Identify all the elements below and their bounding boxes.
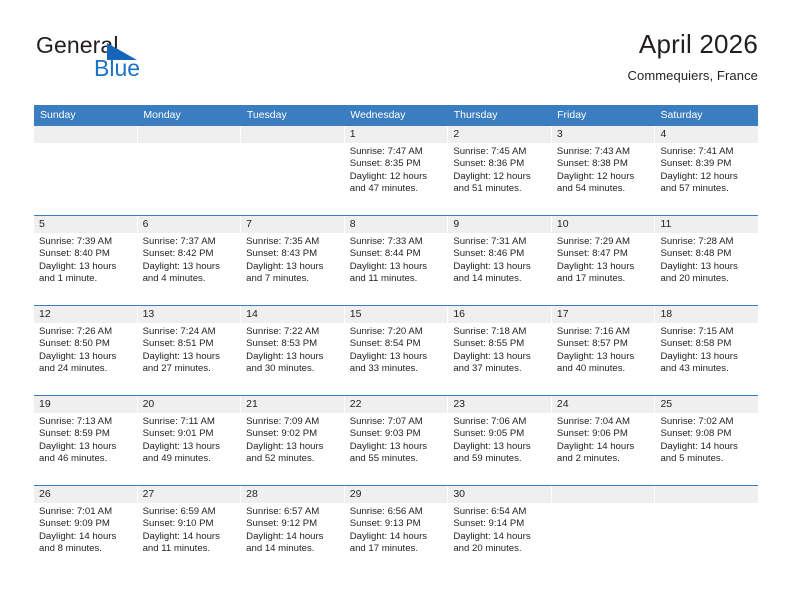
day-number: 10 bbox=[552, 216, 655, 233]
daylight-text-line1: Daylight: 13 hours bbox=[350, 441, 443, 453]
day-number-band: 11 bbox=[655, 216, 758, 233]
day-number-band: 18 bbox=[655, 306, 758, 323]
day-number-band bbox=[34, 126, 137, 143]
daylight-text-line2: and 33 minutes. bbox=[350, 363, 443, 375]
calendar-day-cell[interactable]: 29Sunrise: 6:56 AMSunset: 9:13 PMDayligh… bbox=[345, 486, 449, 575]
daylight-text-line2: and 30 minutes. bbox=[246, 363, 339, 375]
sunset-text: Sunset: 8:36 PM bbox=[453, 158, 546, 170]
day-details: Sunrise: 7:13 AMSunset: 8:59 PMDaylight:… bbox=[34, 413, 137, 466]
day-details: Sunrise: 6:57 AMSunset: 9:12 PMDaylight:… bbox=[241, 503, 344, 556]
sunset-text: Sunset: 9:03 PM bbox=[350, 428, 443, 440]
sunset-text: Sunset: 9:05 PM bbox=[453, 428, 546, 440]
daylight-text-line1: Daylight: 12 hours bbox=[660, 171, 753, 183]
day-details: Sunrise: 7:01 AMSunset: 9:09 PMDaylight:… bbox=[34, 503, 137, 556]
day-details: Sunrise: 7:29 AMSunset: 8:47 PMDaylight:… bbox=[552, 233, 655, 286]
day-number: 13 bbox=[138, 306, 241, 323]
day-number-band: 21 bbox=[241, 396, 344, 413]
day-details: Sunrise: 7:22 AMSunset: 8:53 PMDaylight:… bbox=[241, 323, 344, 376]
daylight-text-line1: Daylight: 13 hours bbox=[350, 261, 443, 273]
daylight-text-line2: and 54 minutes. bbox=[557, 183, 650, 195]
sunrise-text: Sunrise: 7:29 AM bbox=[557, 236, 650, 248]
calendar-day-cell-empty bbox=[34, 126, 138, 215]
sunset-text: Sunset: 8:48 PM bbox=[660, 248, 753, 260]
day-details: Sunrise: 7:04 AMSunset: 9:06 PMDaylight:… bbox=[552, 413, 655, 466]
day-details: Sunrise: 7:20 AMSunset: 8:54 PMDaylight:… bbox=[345, 323, 448, 376]
day-number-band: 4 bbox=[655, 126, 758, 143]
day-number: 9 bbox=[448, 216, 551, 233]
day-number-band: 29 bbox=[345, 486, 448, 503]
sunset-text: Sunset: 8:46 PM bbox=[453, 248, 546, 260]
daylight-text-line2: and 55 minutes. bbox=[350, 453, 443, 465]
daylight-text-line2: and 57 minutes. bbox=[660, 183, 753, 195]
weekday-header-saturday: Saturday bbox=[655, 105, 758, 126]
daylight-text-line2: and 20 minutes. bbox=[660, 273, 753, 285]
sunrise-text: Sunrise: 7:20 AM bbox=[350, 326, 443, 338]
sunrise-text: Sunrise: 7:31 AM bbox=[453, 236, 546, 248]
day-number-band: 25 bbox=[655, 396, 758, 413]
weekday-header-friday: Friday bbox=[551, 105, 654, 126]
sunset-text: Sunset: 8:47 PM bbox=[557, 248, 650, 260]
sunrise-text: Sunrise: 7:02 AM bbox=[660, 416, 753, 428]
day-number: 1 bbox=[345, 126, 448, 143]
day-number-band: 1 bbox=[345, 126, 448, 143]
day-number: 23 bbox=[448, 396, 551, 413]
day-number: 19 bbox=[34, 396, 137, 413]
daylight-text-line2: and 46 minutes. bbox=[39, 453, 132, 465]
day-number-band: 23 bbox=[448, 396, 551, 413]
weekday-header-thursday: Thursday bbox=[448, 105, 551, 126]
daylight-text-line1: Daylight: 14 hours bbox=[350, 531, 443, 543]
calendar-day-cell[interactable]: 1Sunrise: 7:47 AMSunset: 8:35 PMDaylight… bbox=[345, 126, 449, 215]
daylight-text-line1: Daylight: 14 hours bbox=[660, 441, 753, 453]
daylight-text-line1: Daylight: 13 hours bbox=[246, 351, 339, 363]
day-details: Sunrise: 7:26 AMSunset: 8:50 PMDaylight:… bbox=[34, 323, 137, 376]
sunset-text: Sunset: 9:14 PM bbox=[453, 518, 546, 530]
daylight-text-line2: and 52 minutes. bbox=[246, 453, 339, 465]
day-number-band: 5 bbox=[34, 216, 137, 233]
daylight-text-line1: Daylight: 13 hours bbox=[453, 261, 546, 273]
sunset-text: Sunset: 8:55 PM bbox=[453, 338, 546, 350]
daylight-text-line1: Daylight: 14 hours bbox=[453, 531, 546, 543]
day-details: Sunrise: 7:15 AMSunset: 8:58 PMDaylight:… bbox=[655, 323, 758, 376]
daylight-text-line2: and 8 minutes. bbox=[39, 543, 132, 555]
daylight-text-line1: Daylight: 13 hours bbox=[350, 351, 443, 363]
day-number-band: 3 bbox=[552, 126, 655, 143]
sunrise-text: Sunrise: 7:09 AM bbox=[246, 416, 339, 428]
daylight-text-line2: and 14 minutes. bbox=[246, 543, 339, 555]
day-number: 8 bbox=[345, 216, 448, 233]
sunset-text: Sunset: 9:01 PM bbox=[143, 428, 236, 440]
calendar-day-cell[interactable]: 14Sunrise: 7:22 AMSunset: 8:53 PMDayligh… bbox=[241, 306, 345, 395]
day-number-band bbox=[655, 486, 758, 503]
sunrise-text: Sunrise: 7:37 AM bbox=[143, 236, 236, 248]
daylight-text-line1: Daylight: 13 hours bbox=[453, 351, 546, 363]
calendar-day-cell-empty bbox=[655, 486, 758, 575]
day-details: Sunrise: 6:59 AMSunset: 9:10 PMDaylight:… bbox=[138, 503, 241, 556]
weekday-header-tuesday: Tuesday bbox=[241, 105, 344, 126]
daylight-text-line2: and 2 minutes. bbox=[557, 453, 650, 465]
day-number-band bbox=[552, 486, 655, 503]
day-number-band: 24 bbox=[552, 396, 655, 413]
weekday-header-monday: Monday bbox=[137, 105, 240, 126]
daylight-text-line1: Daylight: 13 hours bbox=[660, 261, 753, 273]
title-block: April 2026 Commequiers, France bbox=[628, 28, 759, 85]
day-number: 27 bbox=[138, 486, 241, 503]
daylight-text-line2: and 17 minutes. bbox=[350, 543, 443, 555]
day-details: Sunrise: 7:07 AMSunset: 9:03 PMDaylight:… bbox=[345, 413, 448, 466]
calendar-day-cell[interactable]: 15Sunrise: 7:20 AMSunset: 8:54 PMDayligh… bbox=[345, 306, 449, 395]
calendar-day-cell-empty bbox=[138, 126, 242, 215]
day-details: Sunrise: 7:39 AMSunset: 8:40 PMDaylight:… bbox=[34, 233, 137, 286]
sunrise-text: Sunrise: 7:35 AM bbox=[246, 236, 339, 248]
daylight-text-line2: and 47 minutes. bbox=[350, 183, 443, 195]
sunset-text: Sunset: 9:12 PM bbox=[246, 518, 339, 530]
calendar-day-cell[interactable]: 16Sunrise: 7:18 AMSunset: 8:55 PMDayligh… bbox=[448, 306, 552, 395]
sunset-text: Sunset: 9:02 PM bbox=[246, 428, 339, 440]
calendar-day-cell[interactable]: 21Sunrise: 7:09 AMSunset: 9:02 PMDayligh… bbox=[241, 396, 345, 485]
calendar-day-cell[interactable]: 4Sunrise: 7:41 AMSunset: 8:39 PMDaylight… bbox=[655, 126, 758, 215]
daylight-text-line1: Daylight: 13 hours bbox=[453, 441, 546, 453]
day-number-band: 2 bbox=[448, 126, 551, 143]
day-number: 12 bbox=[34, 306, 137, 323]
calendar-day-cell[interactable]: 12Sunrise: 7:26 AMSunset: 8:50 PMDayligh… bbox=[34, 306, 138, 395]
day-details: Sunrise: 7:11 AMSunset: 9:01 PMDaylight:… bbox=[138, 413, 241, 466]
calendar-week-row: 1Sunrise: 7:47 AMSunset: 8:35 PMDaylight… bbox=[34, 126, 758, 215]
calendar-day-cell[interactable]: 9Sunrise: 7:31 AMSunset: 8:46 PMDaylight… bbox=[448, 216, 552, 305]
calendar-day-cell[interactable]: 18Sunrise: 7:15 AMSunset: 8:58 PMDayligh… bbox=[655, 306, 758, 395]
daylight-text-line2: and 59 minutes. bbox=[453, 453, 546, 465]
day-details: Sunrise: 6:54 AMSunset: 9:14 PMDaylight:… bbox=[448, 503, 551, 556]
day-number-band: 22 bbox=[345, 396, 448, 413]
day-number-band: 8 bbox=[345, 216, 448, 233]
daylight-text-line1: Daylight: 14 hours bbox=[557, 441, 650, 453]
general-blue-logo[interactable]: General Blue bbox=[34, 32, 254, 88]
day-details: Sunrise: 7:31 AMSunset: 8:46 PMDaylight:… bbox=[448, 233, 551, 286]
daylight-text-line1: Daylight: 12 hours bbox=[350, 171, 443, 183]
sunset-text: Sunset: 8:51 PM bbox=[143, 338, 236, 350]
day-number: 7 bbox=[241, 216, 344, 233]
daylight-text-line1: Daylight: 13 hours bbox=[143, 441, 236, 453]
sunrise-text: Sunrise: 7:45 AM bbox=[453, 146, 546, 158]
day-number: 16 bbox=[448, 306, 551, 323]
day-details: Sunrise: 7:16 AMSunset: 8:57 PMDaylight:… bbox=[552, 323, 655, 376]
sunrise-text: Sunrise: 6:57 AM bbox=[246, 506, 339, 518]
day-details: Sunrise: 6:56 AMSunset: 9:13 PMDaylight:… bbox=[345, 503, 448, 556]
daylight-text-line1: Daylight: 14 hours bbox=[39, 531, 132, 543]
sunrise-text: Sunrise: 7:06 AM bbox=[453, 416, 546, 428]
daylight-text-line1: Daylight: 13 hours bbox=[39, 261, 132, 273]
day-number-band: 28 bbox=[241, 486, 344, 503]
day-details: Sunrise: 7:37 AMSunset: 8:42 PMDaylight:… bbox=[138, 233, 241, 286]
calendar-week-row: 12Sunrise: 7:26 AMSunset: 8:50 PMDayligh… bbox=[34, 305, 758, 395]
calendar-day-cell[interactable]: 13Sunrise: 7:24 AMSunset: 8:51 PMDayligh… bbox=[138, 306, 242, 395]
calendar-week-row: 19Sunrise: 7:13 AMSunset: 8:59 PMDayligh… bbox=[34, 395, 758, 485]
calendar-day-cell[interactable]: 3Sunrise: 7:43 AMSunset: 8:38 PMDaylight… bbox=[552, 126, 656, 215]
calendar-day-cell[interactable]: 30Sunrise: 6:54 AMSunset: 9:14 PMDayligh… bbox=[448, 486, 552, 575]
sunrise-text: Sunrise: 7:28 AM bbox=[660, 236, 753, 248]
sunset-text: Sunset: 8:50 PM bbox=[39, 338, 132, 350]
calendar-day-cell[interactable]: 10Sunrise: 7:29 AMSunset: 8:47 PMDayligh… bbox=[552, 216, 656, 305]
day-details: Sunrise: 7:06 AMSunset: 9:05 PMDaylight:… bbox=[448, 413, 551, 466]
sunset-text: Sunset: 9:09 PM bbox=[39, 518, 132, 530]
sunrise-text: Sunrise: 7:18 AM bbox=[453, 326, 546, 338]
calendar-day-cell[interactable]: 25Sunrise: 7:02 AMSunset: 9:08 PMDayligh… bbox=[655, 396, 758, 485]
day-number-band: 26 bbox=[34, 486, 137, 503]
sunrise-text: Sunrise: 7:22 AM bbox=[246, 326, 339, 338]
day-number: 15 bbox=[345, 306, 448, 323]
sunset-text: Sunset: 9:13 PM bbox=[350, 518, 443, 530]
calendar-page: General Blue April 2026 Commequiers, Fra… bbox=[0, 0, 792, 612]
daylight-text-line1: Daylight: 12 hours bbox=[453, 171, 546, 183]
daylight-text-line2: and 4 minutes. bbox=[143, 273, 236, 285]
day-number-band: 17 bbox=[552, 306, 655, 323]
calendar-day-cell[interactable]: 26Sunrise: 7:01 AMSunset: 9:09 PMDayligh… bbox=[34, 486, 138, 575]
daylight-text-line2: and 37 minutes. bbox=[453, 363, 546, 375]
calendar-week-row: 26Sunrise: 7:01 AMSunset: 9:09 PMDayligh… bbox=[34, 485, 758, 575]
day-details: Sunrise: 7:28 AMSunset: 8:48 PMDaylight:… bbox=[655, 233, 758, 286]
daylight-text-line1: Daylight: 13 hours bbox=[557, 351, 650, 363]
day-number-band: 27 bbox=[138, 486, 241, 503]
day-details: Sunrise: 7:47 AMSunset: 8:35 PMDaylight:… bbox=[345, 143, 448, 196]
day-number-band: 6 bbox=[138, 216, 241, 233]
sunset-text: Sunset: 8:57 PM bbox=[557, 338, 650, 350]
day-number-band: 15 bbox=[345, 306, 448, 323]
day-number: 6 bbox=[138, 216, 241, 233]
day-number-band: 9 bbox=[448, 216, 551, 233]
daylight-text-line2: and 49 minutes. bbox=[143, 453, 236, 465]
sunrise-text: Sunrise: 7:41 AM bbox=[660, 146, 753, 158]
day-details: Sunrise: 7:33 AMSunset: 8:44 PMDaylight:… bbox=[345, 233, 448, 286]
calendar-day-cell[interactable]: 7Sunrise: 7:35 AMSunset: 8:43 PMDaylight… bbox=[241, 216, 345, 305]
sunrise-text: Sunrise: 7:39 AM bbox=[39, 236, 132, 248]
sunrise-text: Sunrise: 7:13 AM bbox=[39, 416, 132, 428]
day-number-band: 14 bbox=[241, 306, 344, 323]
day-number-band: 16 bbox=[448, 306, 551, 323]
day-number: 20 bbox=[138, 396, 241, 413]
sunrise-text: Sunrise: 7:33 AM bbox=[350, 236, 443, 248]
logo-text-blue: Blue bbox=[94, 55, 140, 81]
sunset-text: Sunset: 9:10 PM bbox=[143, 518, 236, 530]
day-number: 18 bbox=[655, 306, 758, 323]
day-details: Sunrise: 7:02 AMSunset: 9:08 PMDaylight:… bbox=[655, 413, 758, 466]
day-number: 28 bbox=[241, 486, 344, 503]
day-number: 14 bbox=[241, 306, 344, 323]
daylight-text-line2: and 11 minutes. bbox=[143, 543, 236, 555]
sunset-text: Sunset: 8:58 PM bbox=[660, 338, 753, 350]
day-number: 21 bbox=[241, 396, 344, 413]
daylight-text-line2: and 51 minutes. bbox=[453, 183, 546, 195]
day-number: 11 bbox=[655, 216, 758, 233]
daylight-text-line2: and 43 minutes. bbox=[660, 363, 753, 375]
sunrise-text: Sunrise: 6:54 AM bbox=[453, 506, 546, 518]
day-number: 26 bbox=[34, 486, 137, 503]
day-number-band bbox=[241, 126, 344, 143]
daylight-text-line2: and 40 minutes. bbox=[557, 363, 650, 375]
day-number: 29 bbox=[345, 486, 448, 503]
sunset-text: Sunset: 8:44 PM bbox=[350, 248, 443, 260]
calendar-table: SundayMondayTuesdayWednesdayThursdayFrid… bbox=[34, 105, 758, 575]
day-number-band bbox=[138, 126, 241, 143]
calendar-day-cell[interactable]: 24Sunrise: 7:04 AMSunset: 9:06 PMDayligh… bbox=[552, 396, 656, 485]
day-number: 4 bbox=[655, 126, 758, 143]
calendar-day-cell-empty bbox=[552, 486, 656, 575]
daylight-text-line1: Daylight: 13 hours bbox=[246, 261, 339, 273]
day-number: 30 bbox=[448, 486, 551, 503]
sunrise-text: Sunrise: 7:47 AM bbox=[350, 146, 443, 158]
daylight-text-line1: Daylight: 13 hours bbox=[660, 351, 753, 363]
sunset-text: Sunset: 8:59 PM bbox=[39, 428, 132, 440]
daylight-text-line1: Daylight: 13 hours bbox=[39, 351, 132, 363]
sunrise-text: Sunrise: 7:16 AM bbox=[557, 326, 650, 338]
calendar-day-cell[interactable]: 8Sunrise: 7:33 AMSunset: 8:44 PMDaylight… bbox=[345, 216, 449, 305]
page-title: April 2026 bbox=[628, 28, 759, 60]
day-number: 5 bbox=[34, 216, 137, 233]
sunset-text: Sunset: 8:35 PM bbox=[350, 158, 443, 170]
sunrise-text: Sunrise: 6:56 AM bbox=[350, 506, 443, 518]
sunset-text: Sunset: 8:54 PM bbox=[350, 338, 443, 350]
calendar-day-cell[interactable]: 28Sunrise: 6:57 AMSunset: 9:12 PMDayligh… bbox=[241, 486, 345, 575]
day-number-band: 20 bbox=[138, 396, 241, 413]
calendar-day-cell[interactable]: 19Sunrise: 7:13 AMSunset: 8:59 PMDayligh… bbox=[34, 396, 138, 485]
calendar-day-cell[interactable]: 20Sunrise: 7:11 AMSunset: 9:01 PMDayligh… bbox=[138, 396, 242, 485]
daylight-text-line1: Daylight: 14 hours bbox=[143, 531, 236, 543]
day-number: 24 bbox=[552, 396, 655, 413]
daylight-text-line1: Daylight: 13 hours bbox=[39, 441, 132, 453]
calendar-weeks: 1Sunrise: 7:47 AMSunset: 8:35 PMDaylight… bbox=[34, 126, 758, 575]
day-number: 3 bbox=[552, 126, 655, 143]
sunset-text: Sunset: 9:08 PM bbox=[660, 428, 753, 440]
sunset-text: Sunset: 8:42 PM bbox=[143, 248, 236, 260]
sunrise-text: Sunrise: 7:01 AM bbox=[39, 506, 132, 518]
sunset-text: Sunset: 8:39 PM bbox=[660, 158, 753, 170]
daylight-text-line1: Daylight: 13 hours bbox=[246, 441, 339, 453]
day-number-band: 19 bbox=[34, 396, 137, 413]
day-number-band: 13 bbox=[138, 306, 241, 323]
sunset-text: Sunset: 8:40 PM bbox=[39, 248, 132, 260]
calendar-day-cell[interactable]: 23Sunrise: 7:06 AMSunset: 9:05 PMDayligh… bbox=[448, 396, 552, 485]
daylight-text-line2: and 27 minutes. bbox=[143, 363, 236, 375]
day-number: 25 bbox=[655, 396, 758, 413]
day-details: Sunrise: 7:24 AMSunset: 8:51 PMDaylight:… bbox=[138, 323, 241, 376]
day-number: 2 bbox=[448, 126, 551, 143]
day-number-band: 7 bbox=[241, 216, 344, 233]
day-details: Sunrise: 7:35 AMSunset: 8:43 PMDaylight:… bbox=[241, 233, 344, 286]
calendar-day-cell[interactable]: 2Sunrise: 7:45 AMSunset: 8:36 PMDaylight… bbox=[448, 126, 552, 215]
daylight-text-line2: and 17 minutes. bbox=[557, 273, 650, 285]
sunrise-text: Sunrise: 7:43 AM bbox=[557, 146, 650, 158]
day-details: Sunrise: 7:43 AMSunset: 8:38 PMDaylight:… bbox=[552, 143, 655, 196]
daylight-text-line2: and 5 minutes. bbox=[660, 453, 753, 465]
daylight-text-line1: Daylight: 12 hours bbox=[557, 171, 650, 183]
sunset-text: Sunset: 8:38 PM bbox=[557, 158, 650, 170]
day-details: Sunrise: 7:18 AMSunset: 8:55 PMDaylight:… bbox=[448, 323, 551, 376]
daylight-text-line1: Daylight: 14 hours bbox=[246, 531, 339, 543]
sunset-text: Sunset: 8:43 PM bbox=[246, 248, 339, 260]
daylight-text-line2: and 11 minutes. bbox=[350, 273, 443, 285]
sunrise-text: Sunrise: 7:07 AM bbox=[350, 416, 443, 428]
calendar-day-cell[interactable]: 6Sunrise: 7:37 AMSunset: 8:42 PMDaylight… bbox=[138, 216, 242, 305]
page-header: General Blue April 2026 Commequiers, Fra… bbox=[34, 28, 758, 90]
day-number-band: 30 bbox=[448, 486, 551, 503]
sunrise-text: Sunrise: 7:04 AM bbox=[557, 416, 650, 428]
sunrise-text: Sunrise: 6:59 AM bbox=[143, 506, 236, 518]
daylight-text-line1: Daylight: 13 hours bbox=[557, 261, 650, 273]
weekday-header-row: SundayMondayTuesdayWednesdayThursdayFrid… bbox=[34, 105, 758, 126]
day-number-band: 12 bbox=[34, 306, 137, 323]
calendar-week-row: 5Sunrise: 7:39 AMSunset: 8:40 PMDaylight… bbox=[34, 215, 758, 305]
calendar-day-cell-empty bbox=[241, 126, 345, 215]
sunrise-text: Sunrise: 7:26 AM bbox=[39, 326, 132, 338]
daylight-text-line2: and 7 minutes. bbox=[246, 273, 339, 285]
daylight-text-line2: and 24 minutes. bbox=[39, 363, 132, 375]
daylight-text-line1: Daylight: 13 hours bbox=[143, 261, 236, 273]
daylight-text-line1: Daylight: 13 hours bbox=[143, 351, 236, 363]
daylight-text-line2: and 20 minutes. bbox=[453, 543, 546, 555]
weekday-header-wednesday: Wednesday bbox=[344, 105, 447, 126]
calendar-day-cell[interactable]: 22Sunrise: 7:07 AMSunset: 9:03 PMDayligh… bbox=[345, 396, 449, 485]
daylight-text-line2: and 1 minute. bbox=[39, 273, 132, 285]
day-details: Sunrise: 7:09 AMSunset: 9:02 PMDaylight:… bbox=[241, 413, 344, 466]
sunrise-text: Sunrise: 7:15 AM bbox=[660, 326, 753, 338]
calendar-day-cell[interactable]: 5Sunrise: 7:39 AMSunset: 8:40 PMDaylight… bbox=[34, 216, 138, 305]
day-details: Sunrise: 7:41 AMSunset: 8:39 PMDaylight:… bbox=[655, 143, 758, 196]
day-number-band: 10 bbox=[552, 216, 655, 233]
daylight-text-line2: and 14 minutes. bbox=[453, 273, 546, 285]
calendar-day-cell[interactable]: 11Sunrise: 7:28 AMSunset: 8:48 PMDayligh… bbox=[655, 216, 758, 305]
calendar-day-cell[interactable]: 17Sunrise: 7:16 AMSunset: 8:57 PMDayligh… bbox=[552, 306, 656, 395]
weekday-header-sunday: Sunday bbox=[34, 105, 137, 126]
day-number: 22 bbox=[345, 396, 448, 413]
day-number: 17 bbox=[552, 306, 655, 323]
sunrise-text: Sunrise: 7:24 AM bbox=[143, 326, 236, 338]
day-details: Sunrise: 7:45 AMSunset: 8:36 PMDaylight:… bbox=[448, 143, 551, 196]
calendar-day-cell[interactable]: 27Sunrise: 6:59 AMSunset: 9:10 PMDayligh… bbox=[138, 486, 242, 575]
sunset-text: Sunset: 9:06 PM bbox=[557, 428, 650, 440]
sunrise-text: Sunrise: 7:11 AM bbox=[143, 416, 236, 428]
location-subtitle: Commequiers, France bbox=[628, 67, 759, 85]
sunset-text: Sunset: 8:53 PM bbox=[246, 338, 339, 350]
